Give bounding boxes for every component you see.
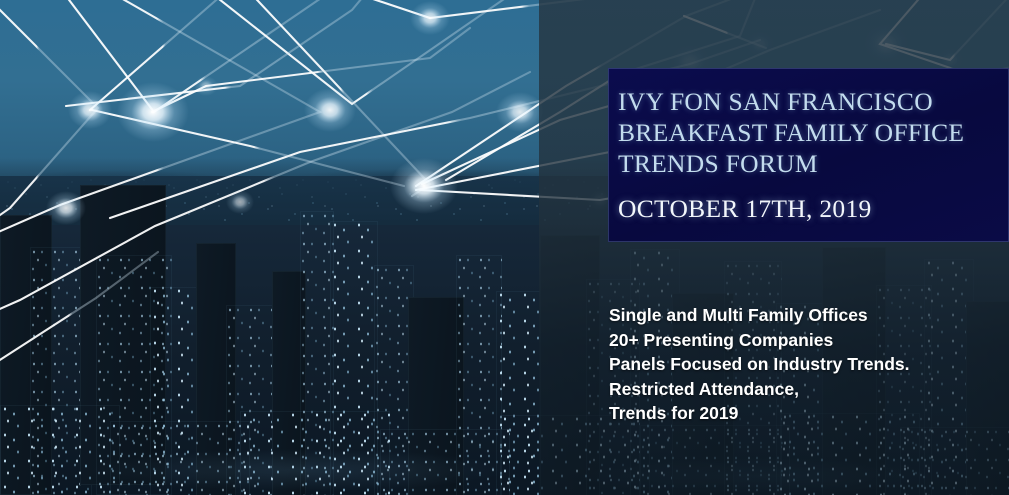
title-line-2: BREAKFAST FAMILY OFFICE bbox=[618, 117, 1009, 148]
title-panel: IVY FON SAN FRANCISCO BREAKFAST FAMILY O… bbox=[608, 68, 1009, 242]
detail-item-2: 20+ Presenting Companies bbox=[609, 328, 1009, 353]
detail-item-1: Single and Multi Family Offices bbox=[609, 303, 1009, 328]
event-banner: IVY FON SAN FRANCISCO BREAKFAST FAMILY O… bbox=[0, 0, 1009, 495]
title-line-3: TRENDS FORUM bbox=[618, 148, 1009, 179]
event-date: OCTOBER 17TH, 2019 bbox=[618, 193, 1009, 224]
detail-item-4: Restricted Attendance, bbox=[609, 377, 1009, 402]
detail-item-5: Trends for 2019 bbox=[609, 401, 1009, 426]
detail-item-3: Panels Focused on Industry Trends. bbox=[609, 352, 1009, 377]
event-details-list: Single and Multi Family Offices 20+ Pres… bbox=[609, 303, 1009, 426]
title-line-1: IVY FON SAN FRANCISCO bbox=[618, 86, 1009, 117]
